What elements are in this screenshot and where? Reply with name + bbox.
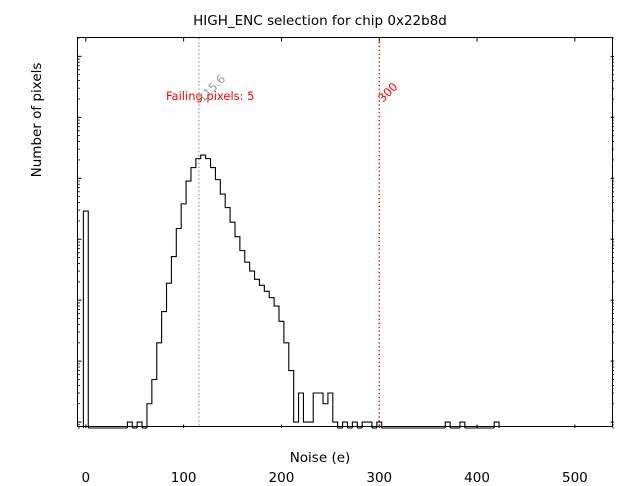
x-tick-label: 100: [171, 470, 197, 486]
chart-title: HIGH_ENC selection for chip 0x22b8d: [0, 13, 640, 29]
y-axis-label-wrap: Number of pixels: [26, 0, 45, 270]
matplotlib-figure: HIGH_ENC selection for chip 0x22b8d Numb…: [0, 0, 640, 480]
x-axis-label: Noise (e): [0, 450, 640, 466]
x-tick-label: 500: [562, 470, 588, 486]
x-tick-label: 0: [82, 470, 91, 486]
y-major-ticks: [78, 56, 614, 422]
y-axis-label: Number of pixels: [29, 0, 45, 270]
y-minor-ticks: [78, 38, 614, 428]
histogram-plot: [78, 38, 614, 428]
plot-axes: Number of pixels 100101102103104105106 0…: [77, 37, 613, 427]
x-tick-label: 400: [464, 470, 490, 486]
x-major-ticks: [86, 38, 575, 428]
histogram-step-line: [83, 155, 499, 428]
x-tick-label: 300: [366, 470, 392, 486]
x-tick-label: 200: [269, 470, 295, 486]
